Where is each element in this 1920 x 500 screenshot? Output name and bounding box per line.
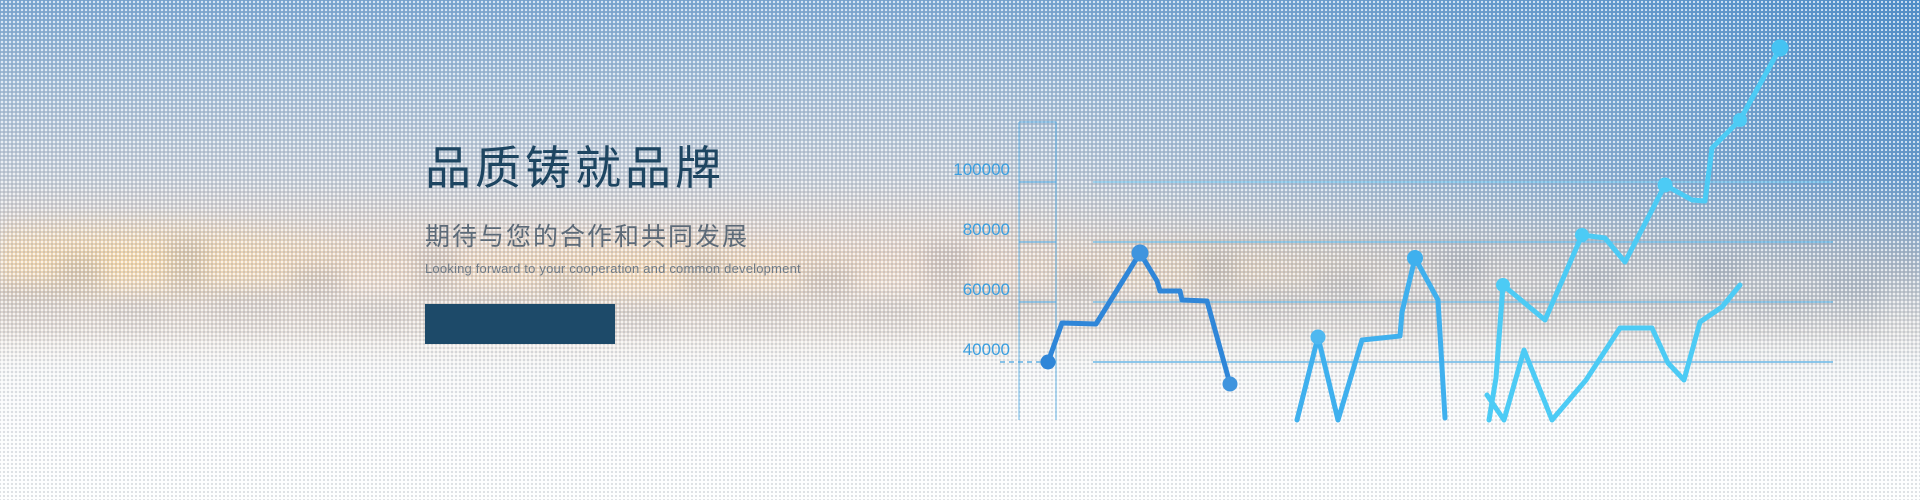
decorative-line-chart: 100000 80000 60000 40000 (0, 0, 1920, 500)
chart-series-3 (1489, 40, 1789, 421)
chart-gridlines (1093, 182, 1833, 362)
page-title: 品质铸就品牌 (425, 142, 895, 195)
y-axis-tick-40000: 40000 (963, 340, 1010, 359)
cta-button[interactable] (425, 304, 615, 344)
axis-column-frame (1019, 122, 1056, 420)
chart-series-1 (1041, 245, 1238, 392)
y-axis-tick-100000: 100000 (953, 160, 1010, 179)
axis-tick-stubs (1019, 182, 1056, 302)
hero-copy-block: 品质铸就品牌 期待与您的合作和共同发展 Looking forward to y… (425, 142, 895, 344)
y-axis-tick-80000: 80000 (963, 220, 1010, 239)
y-axis-tick-60000: 60000 (963, 280, 1010, 299)
hero-banner: 100000 80000 60000 40000 (0, 0, 1920, 500)
subtitle-english: Looking forward to your cooperation and … (425, 261, 895, 276)
subtitle-chinese: 期待与您的合作和共同发展 (425, 217, 895, 253)
chart-series-2 (1297, 250, 1445, 420)
